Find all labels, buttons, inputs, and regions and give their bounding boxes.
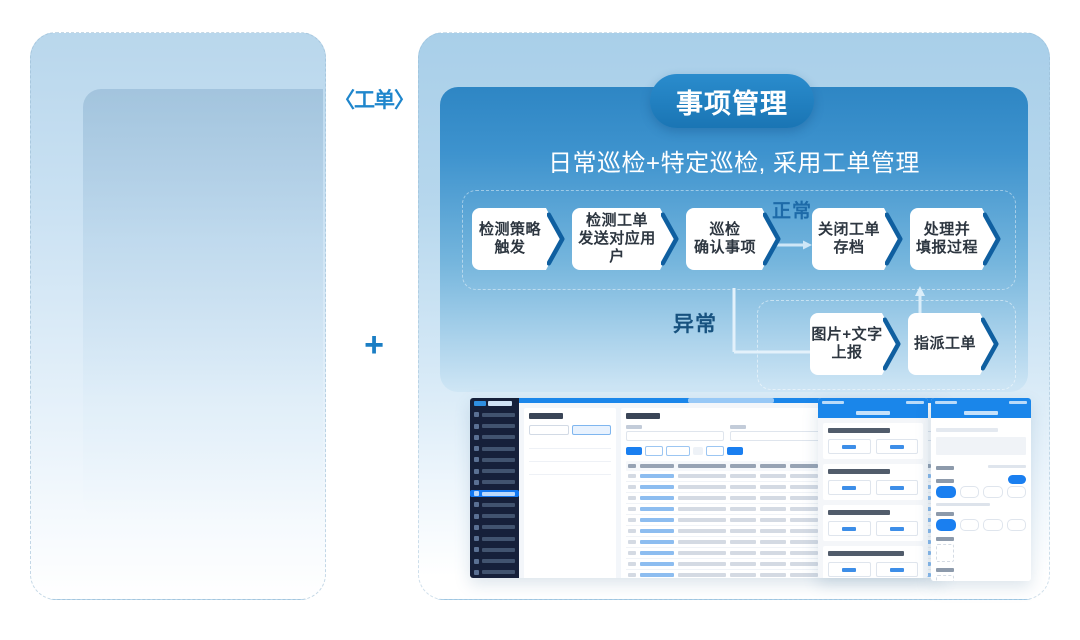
mockup-nav-item-active[interactable] xyxy=(470,490,519,497)
chip-option xyxy=(1007,486,1027,498)
mockup-logo xyxy=(470,398,519,409)
flow-step-line2: 上报 xyxy=(811,344,882,362)
form-label xyxy=(936,428,998,432)
flow-step-line2: 确认事项 xyxy=(694,239,756,257)
chip-option xyxy=(936,519,956,531)
mobile-body xyxy=(931,418,1031,581)
image-upload-button[interactable] xyxy=(936,544,954,562)
checklist-question xyxy=(823,546,923,578)
mockup-nav-item[interactable] xyxy=(474,467,515,474)
option-abnormal-button xyxy=(876,480,919,495)
mockup-nav-item[interactable] xyxy=(474,501,515,508)
branch-label-abnormal: 异常 xyxy=(673,308,717,338)
mockup-sidebar xyxy=(470,398,519,578)
flow-step-line2: 发送对应用户 xyxy=(572,230,662,267)
mockup-nav-item[interactable] xyxy=(474,434,515,441)
form-chip-group[interactable] xyxy=(936,519,1026,531)
mockup-field[interactable] xyxy=(626,425,724,441)
mockup-nav-item[interactable] xyxy=(474,411,515,418)
connector-plus-icon: + xyxy=(332,328,416,362)
form-value xyxy=(988,465,1026,468)
chip-option xyxy=(983,486,1003,498)
flow-step-line1: 处理并 xyxy=(916,221,978,239)
mobile-title-bar xyxy=(818,407,928,418)
mockup-nav-item[interactable] xyxy=(474,422,515,429)
form-textarea[interactable] xyxy=(936,437,1026,455)
flow-step-line1: 图片+文字 xyxy=(811,326,882,344)
flow-step-line2: 触发 xyxy=(479,239,541,257)
flow-step[interactable]: 关闭工单 存档 xyxy=(812,208,900,270)
option-abnormal-button xyxy=(876,439,919,454)
mobile-checklist-mockup xyxy=(818,398,928,578)
toggle-switch[interactable] xyxy=(1008,475,1026,484)
option-abnormal-button xyxy=(876,562,919,577)
mockup-filter-panel xyxy=(524,408,616,578)
mobile-report-form-mockup xyxy=(931,398,1031,581)
form-label xyxy=(936,479,954,483)
mockup-panel-title xyxy=(626,413,660,419)
form-label xyxy=(936,568,954,572)
mockup-nav-item[interactable] xyxy=(474,456,515,463)
mobile-title-bar xyxy=(931,407,1031,418)
flow-step-line1: 指派工单 xyxy=(914,335,976,353)
flow-step[interactable]: 检测工单 发送对应用户 xyxy=(572,208,676,270)
form-chip-group[interactable] xyxy=(936,486,1026,498)
form-toggle-row[interactable] xyxy=(936,473,1026,486)
mockup-nav-item[interactable] xyxy=(474,512,515,519)
chip-option xyxy=(936,486,956,498)
answer-options[interactable] xyxy=(828,521,918,536)
mockup-nav-item[interactable] xyxy=(474,524,515,531)
option-normal-button xyxy=(828,562,871,577)
mockup-nav-item[interactable] xyxy=(474,445,515,452)
mockup-nav-item[interactable] xyxy=(474,546,515,553)
form-label xyxy=(936,466,954,470)
answer-options[interactable] xyxy=(828,562,918,577)
checklist-question xyxy=(823,423,923,459)
flow-step-line2: 填报过程 xyxy=(916,239,978,257)
status-bar xyxy=(931,398,1031,407)
image-upload-button[interactable] xyxy=(936,575,954,581)
flow-step-line1: 巡检 xyxy=(694,221,756,239)
diagram-canvas: 人的管理 实时定位 轨迹回放 滞留报警 巡检提醒 巡检任务 〈工单〉 + 事项管… xyxy=(0,0,1080,640)
status-bar xyxy=(818,398,928,407)
flow-step[interactable]: 处理并 填报过程 xyxy=(910,208,998,270)
chip-option xyxy=(1007,519,1027,531)
checklist-question xyxy=(823,464,923,500)
flow-step-line1: 关闭工单 xyxy=(818,221,880,239)
option-abnormal-button xyxy=(876,521,919,536)
flow-step[interactable]: 检测策略 触发 xyxy=(472,208,562,270)
flow-step-branch[interactable]: 图片+文字 上报 xyxy=(810,313,898,375)
checklist-question xyxy=(823,505,923,541)
mobile-body xyxy=(818,418,928,578)
mockup-tree-row[interactable] xyxy=(529,454,611,462)
form-label xyxy=(936,537,954,541)
flow-step-line1: 检测工单 xyxy=(572,212,662,230)
mockup-panel-title xyxy=(529,413,563,419)
mockup-nav-item[interactable] xyxy=(474,535,515,542)
chip-option xyxy=(960,519,980,531)
answer-options[interactable] xyxy=(828,480,918,495)
option-normal-button xyxy=(828,480,871,495)
option-normal-button xyxy=(828,521,871,536)
flow-step[interactable]: 巡检 确认事项 xyxy=(686,208,778,270)
mockup-tree-row[interactable] xyxy=(529,467,611,475)
flow-step-line1: 检测策略 xyxy=(479,221,541,239)
connector-workorder-label: 〈工单〉 xyxy=(332,84,416,114)
mockup-nav-item[interactable] xyxy=(474,557,515,564)
mockup-tree-row[interactable] xyxy=(529,441,611,449)
form-hint xyxy=(936,503,990,506)
mockup-nav-item[interactable] xyxy=(474,479,515,486)
mockup-segmented-control[interactable] xyxy=(529,425,611,435)
mockup-field[interactable] xyxy=(730,425,828,441)
option-normal-button xyxy=(828,439,871,454)
answer-options[interactable] xyxy=(828,439,918,454)
form-row xyxy=(936,460,1026,473)
branch-label-normal: 正常 xyxy=(772,196,812,223)
chip-option xyxy=(983,519,1003,531)
flow-step-line2: 存档 xyxy=(818,239,880,257)
mockup-nav-item[interactable] xyxy=(474,569,515,576)
chip-option xyxy=(960,486,980,498)
flow-step-branch[interactable]: 指派工单 xyxy=(908,313,996,375)
form-label xyxy=(936,512,954,516)
